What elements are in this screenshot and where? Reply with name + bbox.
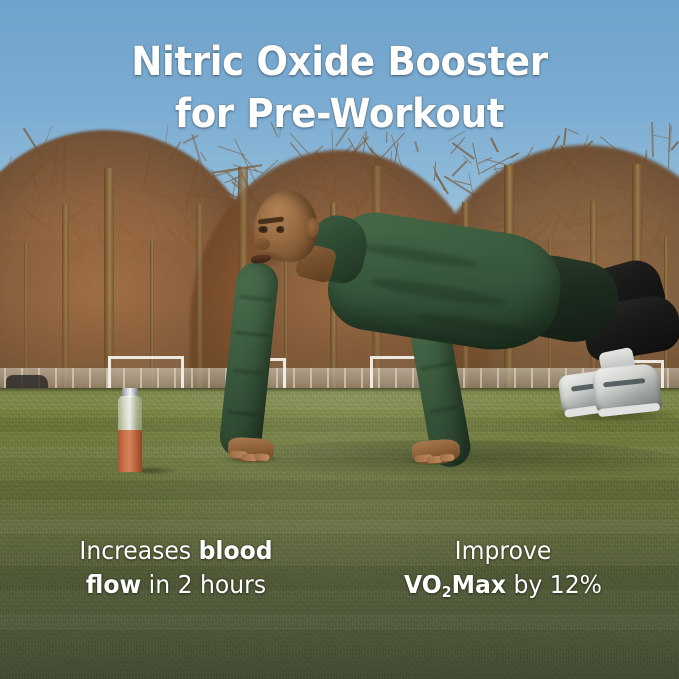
benefit-callouts: Increases blood flow in 2 hours Improve … xyxy=(0,534,679,605)
running-shoe xyxy=(592,363,663,418)
athlete-eye xyxy=(258,226,269,233)
headline-line-2: for Pre-Workout xyxy=(24,88,655,140)
benefit-vo2max: Improve VO2Max by 12% xyxy=(362,534,644,605)
athlete-arm-front xyxy=(218,260,280,459)
vo2max-subscript: 2 xyxy=(442,583,452,601)
benefit-right-suffix: by 12% xyxy=(506,570,602,599)
benefit-left-line-2: flow in 2 hours xyxy=(35,568,317,602)
headline-line-1: Nitric Oxide Booster xyxy=(24,36,655,88)
athlete-ear xyxy=(306,218,319,237)
benefit-left-suffix: in 2 hours xyxy=(141,570,266,599)
benefit-right-line-1: Improve xyxy=(362,534,644,568)
vo2max-post: Max xyxy=(452,570,506,599)
athlete-eye xyxy=(276,226,285,233)
poster-image: Nitric Oxide Booster for Pre-Workout Inc… xyxy=(0,0,679,679)
page-title: Nitric Oxide Booster for Pre-Workout xyxy=(24,36,655,140)
vo2max-pre: VO xyxy=(404,570,442,599)
benefit-blood-flow: Increases blood flow in 2 hours xyxy=(35,534,317,602)
benefit-right-vo2max: VO2Max xyxy=(404,570,506,599)
athlete-nose xyxy=(254,238,270,250)
benefit-left-prefix: Increases xyxy=(79,536,198,565)
benefit-right-line-2: VO2Max by 12% xyxy=(362,568,644,605)
benefit-left-bold-flow: flow xyxy=(86,570,141,599)
benefit-left-line-1: Increases blood xyxy=(35,534,317,568)
benefit-left-bold-blood: blood xyxy=(199,536,273,565)
